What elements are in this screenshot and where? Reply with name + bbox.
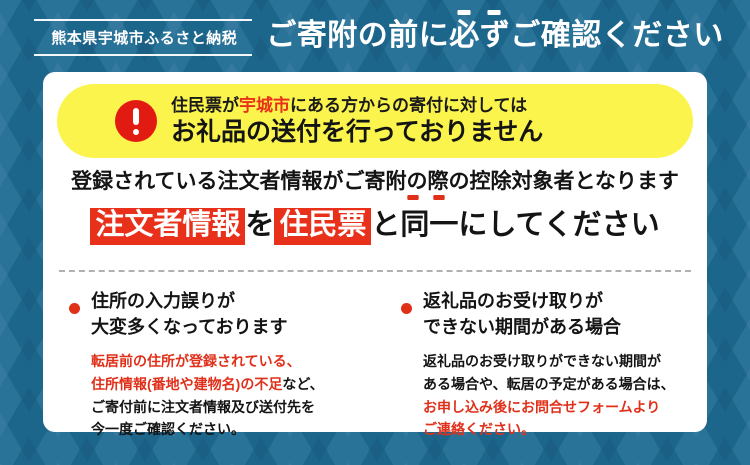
page-title-prefix: ご寄附の前に [266, 21, 449, 51]
notice-body-black-part: など、 [282, 376, 323, 392]
notice-body-line: 返礼品のお受け取りができない期間が [423, 350, 697, 373]
notice-heading-text: 返礼品のお受け取りが できない期間がある場合 [423, 288, 621, 340]
statement-chip-orderer-info: 注文者情報 [90, 208, 245, 244]
section-divider [59, 270, 691, 272]
warning-line1-part2: にある方からの寄付に対しては [290, 96, 527, 115]
notice-heading-line2: 大変多くなっております [91, 314, 288, 340]
brand-rule-top [34, 19, 252, 21]
notice-heading: 住所の入力誤りが 大変多くなっております [69, 288, 365, 340]
content-card: 住民票が宇城市にある方からの寄付に対しては お礼品の送付を行っておりません 登録… [43, 72, 707, 432]
bullet-dot-icon [69, 303, 80, 314]
statement-line1: 登録されている注文者情報がご寄附の際の控除対象者となります [43, 168, 707, 195]
statement-block: 登録されている注文者情報がご寄附の際の控除対象者となります 注文者情報を住民票と… [43, 168, 707, 245]
page-title: ご寄附の前に必ずご確認ください [266, 21, 724, 51]
notice-body-line: 今一度ご確認ください。 [91, 418, 365, 441]
banner-header: 熊本県宇城市ふるさと納税 ご寄附の前に必ずご確認ください [0, 0, 750, 72]
warning-alert-line2: お礼品の送付を行っておりません [171, 117, 543, 147]
notice-heading-text: 住所の入力誤りが 大変多くなっております [91, 288, 288, 340]
statement-tail-emphasis: 同一 [400, 207, 458, 243]
notice-heading-line1: 住所の入力誤りが [91, 288, 288, 314]
notice-body-line: 転居前の住所が登録されている、 [91, 350, 365, 373]
notice-column-address-errors: 住所の入力誤りが 大変多くなっております 転居前の住所が登録されている、 住所情… [43, 288, 375, 441]
statement-tail-suffix: にしてください [458, 207, 659, 243]
notice-heading: 返礼品のお受け取りが できない期間がある場合 [401, 288, 697, 340]
notice-body-line: ご寄付前に注文者情報及び送付先を [91, 396, 365, 419]
notice-body-line: ある場合や、転居の予定がある場合は、 [423, 373, 697, 396]
notice-heading-line1: 返礼品のお受け取りが [423, 288, 621, 314]
notice-body: 転居前の住所が登録されている、 住所情報(番地や建物名)の不足など、 ご寄付前に… [69, 350, 365, 441]
page-title-suffix: ご確認ください [510, 21, 724, 51]
brand-block: 熊本県宇城市ふるさと納税 [34, 17, 252, 56]
page-title-emphasis: 必ず [449, 21, 510, 51]
warning-line1-highlight: 宇城市 [239, 96, 290, 115]
bullet-dot-icon [401, 303, 412, 314]
notice-column-delivery-window: 返礼品のお受け取りが できない期間がある場合 返礼品のお受け取りができない期間が… [375, 288, 707, 441]
notice-body: 返礼品のお受け取りができない期間が ある場合や、転居の予定がある場合は、 お申し… [401, 350, 697, 441]
warning-alert-line1: 住民票が宇城市にある方からの寄付に対しては [171, 95, 543, 116]
warning-alert-text: 住民票が宇城市にある方からの寄付に対しては お礼品の送付を行っておりません [171, 95, 543, 147]
notice-columns: 住所の入力誤りが 大変多くなっております 転居前の住所が登録されている、 住所情… [43, 288, 707, 441]
statement-chip-residence-card: 住民票 [274, 208, 371, 244]
notice-body-line: 住所情報(番地や建物名)の不足など、 [91, 373, 365, 396]
notice-body-line: ご連絡ください。 [423, 418, 697, 441]
statement-joiner: を [245, 207, 274, 243]
brand-rule-bottom [34, 54, 252, 56]
brand-label: 熊本県宇城市ふるさと納税 [34, 21, 252, 54]
warning-line1-part1: 住民票が [171, 96, 239, 115]
promo-banner: 熊本県宇城市ふるさと納税 ご寄附の前に必ずご確認ください 住民票が宇城市にある方… [0, 0, 750, 465]
warning-alert: 住民票が宇城市にある方からの寄付に対しては お礼品の送付を行っておりません [57, 84, 693, 158]
notice-heading-line2: できない期間がある場合 [423, 314, 621, 340]
notice-body-line: お申し込み後にお問合せフォームより [423, 396, 697, 419]
statement-tail-prefix: と [371, 207, 400, 243]
statement-line2: 注文者情報を住民票と同一にしてください [43, 207, 707, 244]
exclamation-circle-icon [115, 100, 157, 142]
notice-body-red-part: 住所情報(番地や建物名)の不足 [91, 376, 282, 392]
